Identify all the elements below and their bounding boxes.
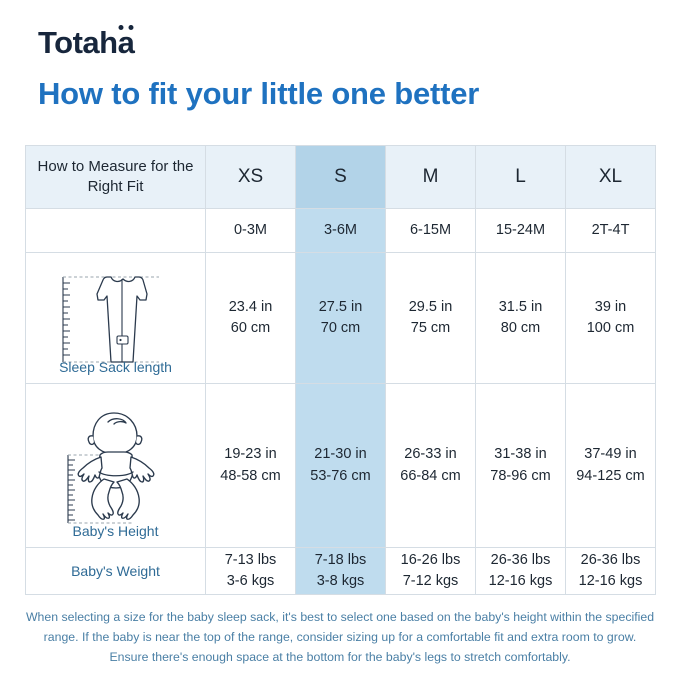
cell-height-l: 31-38 in 78-96 cm <box>476 384 566 548</box>
column-header-l[interactable]: L <box>476 146 566 209</box>
baby-icon <box>38 405 193 533</box>
cell-weight-l: 26-36 lbs 12-16 kgs <box>476 548 566 595</box>
cell-length-s: 27.5 in 70 cm <box>296 253 386 384</box>
brand-last-letter: a <box>118 25 135 60</box>
table-row-baby-height: Baby's Height 19-23 in 48-58 cm 21-30 in… <box>26 384 656 548</box>
row-label-age <box>26 209 206 253</box>
cell-age-xs: 0-3M <box>206 209 296 253</box>
table-row-age: 0-3M 3-6M 6-15M 15-24M 2T-4T <box>26 209 656 253</box>
cell-age-s: 3-6M <box>296 209 386 253</box>
sleep-sack-icon <box>41 270 191 370</box>
cell-weight-s: 7-18 lbs 3-8 kgs <box>296 548 386 595</box>
cell-height-xl: 37-49 in 94-125 cm <box>566 384 656 548</box>
cell-age-m: 6-15M <box>386 209 476 253</box>
column-header-s[interactable]: S <box>296 146 386 209</box>
cell-length-m: 29.5 in 75 cm <box>386 253 476 384</box>
column-header-xl[interactable]: XL <box>566 146 656 209</box>
column-header-xs[interactable]: XS <box>206 146 296 209</box>
cell-height-s: 21-30 in 53-76 cm <box>296 384 386 548</box>
row-label-text-baby-height: Baby's Height <box>26 523 205 539</box>
row-label-baby-weight: Baby's Weight <box>26 548 206 595</box>
brand-name: Totah <box>38 25 118 60</box>
row-label-baby-height: Baby's Height <box>26 384 206 548</box>
row-label-text-sleep-sack-length: Sleep Sack length <box>26 359 205 375</box>
cell-weight-xs: 7-13 lbs 3-6 kgs <box>206 548 296 595</box>
table-header-row: How to Measure for the Right Fit XS S M … <box>26 146 656 209</box>
row-label-text-baby-weight: Baby's Weight <box>26 563 205 579</box>
cell-weight-xl: 26-36 lbs 12-16 kgs <box>566 548 656 595</box>
cell-age-l: 15-24M <box>476 209 566 253</box>
column-header-m[interactable]: M <box>386 146 476 209</box>
cell-length-xs: 23.4 in 60 cm <box>206 253 296 384</box>
cell-weight-m: 16-26 lbs 7-12 kgs <box>386 548 476 595</box>
column-header-measure: How to Measure for the Right Fit <box>26 146 206 209</box>
cell-age-xl: 2T-4T <box>566 209 656 253</box>
cell-length-xl: 39 in 100 cm <box>566 253 656 384</box>
brand-umlaut-letter: a <box>118 27 135 58</box>
table-row-sleep-sack-length: Sleep Sack length 23.4 in 60 cm 27.5 in … <box>26 253 656 384</box>
cell-length-l: 31.5 in 80 cm <box>476 253 566 384</box>
brand-logo: Totaha <box>38 27 134 58</box>
umlaut-icon <box>118 25 133 30</box>
table-row-baby-weight: Baby's Weight 7-13 lbs 3-6 kgs 7-18 lbs … <box>26 548 656 595</box>
row-label-sleep-sack-length: Sleep Sack length <box>26 253 206 384</box>
page-title: How to fit your little one better <box>38 76 479 112</box>
cell-height-m: 26-33 in 66-84 cm <box>386 384 476 548</box>
cell-height-xs: 19-23 in 48-58 cm <box>206 384 296 548</box>
size-chart-table: How to Measure for the Right Fit XS S M … <box>25 145 656 595</box>
size-guide-page: Totaha How to fit your little one better… <box>0 0 679 679</box>
sizing-note: When selecting a size for the baby sleep… <box>25 608 655 668</box>
